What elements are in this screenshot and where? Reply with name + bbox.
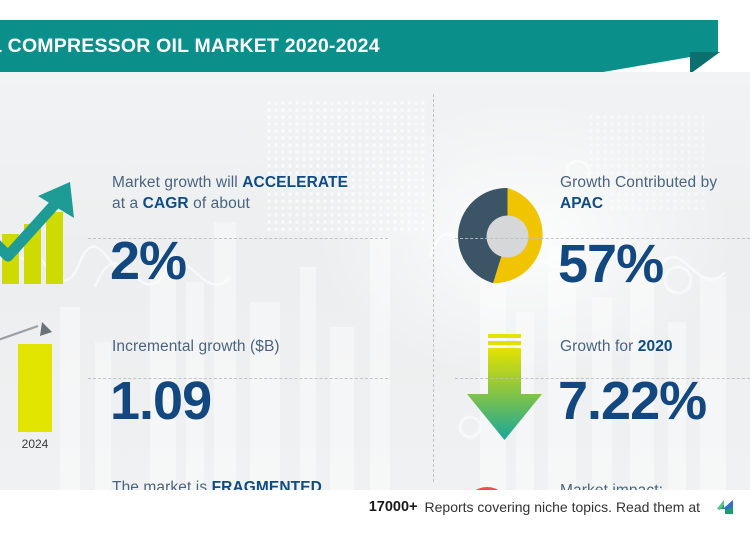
- incremental-growth-value: 1.09: [110, 372, 211, 430]
- cagr-caption: Market growth will ACCELERATE at a CAGR …: [112, 172, 412, 214]
- growth-2020-caption-year: 2020: [638, 338, 673, 355]
- cagr-caption-accelerate: ACCELERATE: [242, 174, 348, 191]
- divider-vertical-center: [433, 94, 434, 482]
- market-impact-caption: Market impact:: [560, 480, 750, 490]
- growth-2020-value: 7.22%: [558, 372, 706, 430]
- footer-tagline: Reports covering niche topics. Read them…: [425, 499, 700, 515]
- cagr-caption-plain-1: Market growth will: [112, 174, 242, 191]
- apac-value: 57%: [558, 235, 663, 293]
- header-banner: AL COMPRESSOR OIL MARKET 2020-2024: [0, 20, 718, 72]
- body-area: 9 2024: [0, 72, 750, 490]
- apac-caption-line-1: Growth Contributed by: [560, 174, 717, 191]
- cagr-caption-tail: of about: [189, 195, 250, 212]
- bar-label-2024: 2024: [22, 437, 49, 451]
- infographic-root: AL COMPRESSOR OIL MARKET 2020-2024: [0, 0, 750, 536]
- fragmented-caption-bold: FRAGMENTED: [212, 479, 322, 490]
- apac-caption: Growth Contributed by APAC: [560, 172, 750, 214]
- apac-caption-region: APAC: [560, 195, 603, 212]
- fragmented-market-icon: [0, 470, 96, 490]
- cagr-value: 2%: [110, 232, 186, 290]
- bottom-white-strip: [0, 524, 750, 536]
- bar-chart-icon: 9 2024: [0, 320, 90, 455]
- footer-bar: 17000+ Reports covering niche topics. Re…: [0, 490, 750, 524]
- growth-2020-caption: Growth for 2020: [560, 336, 750, 357]
- footer-report-count: 17000+: [369, 499, 418, 515]
- incremental-growth-caption: Incremental growth ($B): [112, 336, 412, 357]
- growth-2020-caption-plain: Growth for: [560, 338, 638, 355]
- technavio-logo-icon[interactable]: [714, 496, 736, 518]
- page-title: AL COMPRESSOR OIL MARKET 2020-2024: [0, 35, 380, 58]
- down-arrow-icon: [462, 330, 547, 445]
- fragmented-caption: The market is FRAGMENTED with several pl…: [112, 477, 417, 490]
- donut-chart-icon: [455, 184, 560, 289]
- fragmented-caption-plain-1: The market is: [112, 479, 212, 490]
- cagr-caption-cagr: CAGR: [143, 195, 189, 212]
- cagr-caption-plain-2: at a: [112, 195, 143, 212]
- header-fold-corner: [690, 52, 720, 74]
- growth-arrow-icon: [0, 172, 88, 287]
- top-white-strip: [0, 0, 750, 20]
